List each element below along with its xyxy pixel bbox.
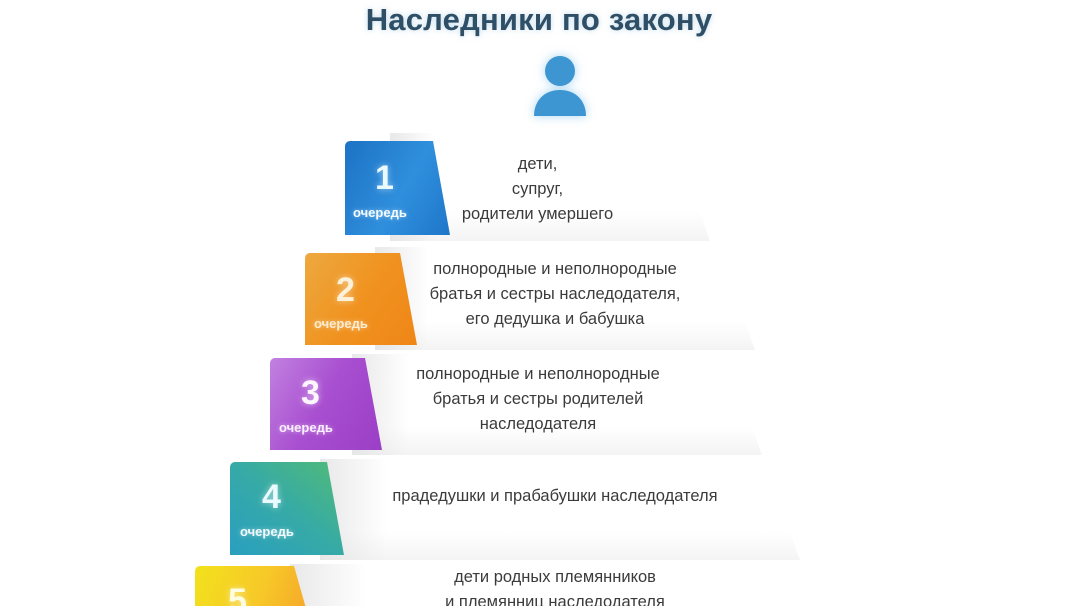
tier-2-queue-label: очередь [314, 316, 368, 331]
page-title: Наследники по закону [0, 2, 1078, 38]
tier-3-badge[interactable]: 3 очередь [270, 358, 382, 450]
tier-5-badge[interactable]: 5 очередь [195, 566, 311, 606]
tier-3-queue-label: очередь [279, 420, 333, 435]
tier-2-badge[interactable]: 2 очередь [305, 253, 417, 345]
tier-1-queue-label: очередь [353, 205, 407, 220]
infographic-canvas: Наследники по закону дети, супруг, родит… [0, 0, 1078, 606]
tier-4-text: прадедушки и прабабушки наследодателя [340, 484, 770, 509]
tier-4-queue-label: очередь [240, 524, 294, 539]
tier-5-number: 5 [228, 584, 247, 606]
tier-2-text: полнородные и неполнородные братья и сес… [390, 257, 720, 332]
tier-3-text: полнородные и неполнородные братья и сес… [368, 362, 708, 437]
tier-3-number: 3 [301, 376, 320, 410]
panel-shade [320, 459, 800, 560]
tier-5-text: дети родных племянников и племянниц насл… [310, 565, 800, 606]
tier-4-badge[interactable]: 4 очередь [230, 462, 344, 555]
tier-2-number: 2 [336, 273, 355, 307]
tier-1-number: 1 [375, 161, 394, 195]
tier-4-number: 4 [262, 480, 281, 514]
person-icon [525, 52, 595, 118]
tier-1-badge[interactable]: 1 очередь [345, 141, 450, 235]
tier-4-panel [320, 459, 800, 560]
